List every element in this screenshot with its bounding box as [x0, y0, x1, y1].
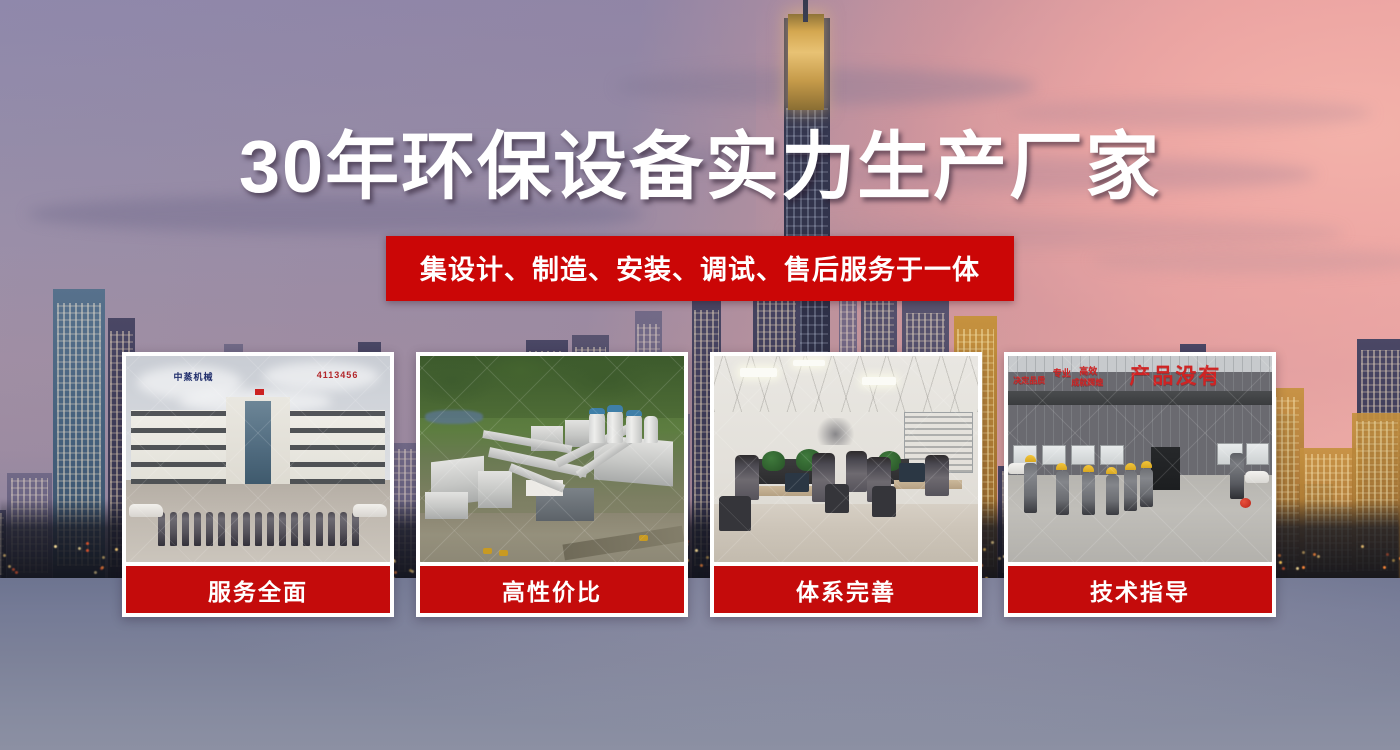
photo-silo-cap — [626, 410, 642, 416]
photo-ceiling-light — [793, 360, 825, 366]
card-label: 高性价比 — [420, 566, 684, 613]
photo-phone-number: 4113456 — [317, 370, 359, 380]
photo-yellow-helmet — [1141, 461, 1152, 468]
photo-ceiling — [714, 356, 978, 412]
photo-supervisor — [1230, 453, 1244, 499]
photo-building-atrium — [245, 401, 271, 483]
shore-light — [78, 547, 81, 550]
photo-factory-door — [1151, 447, 1180, 490]
photo-employee — [846, 451, 867, 492]
photo-flag — [255, 389, 264, 395]
photo-car — [353, 504, 387, 517]
photo-staff-member — [279, 512, 286, 546]
photo-plant-building — [478, 471, 512, 508]
photo-worker — [1124, 471, 1137, 511]
photo-building-wing-right — [290, 410, 385, 484]
photo-staff-member — [218, 512, 225, 546]
photo-staff-member — [303, 512, 310, 546]
photo-worker — [1056, 471, 1069, 515]
photo-staff-member — [231, 512, 238, 546]
photo-plant — [762, 451, 786, 472]
photo-wall-decal — [814, 418, 856, 445]
page-title: 30年环保设备实力生产厂家 — [0, 130, 1400, 204]
photo-slogan-large: 产品没有 — [1129, 360, 1221, 390]
photo-excavator — [499, 550, 508, 556]
shore-light — [3, 554, 6, 557]
subtitle-banner: 集设计、制造、安装、调试、售后服务于一体 — [386, 236, 1014, 301]
photo-worker — [1082, 473, 1095, 515]
shore-light — [54, 545, 57, 548]
photo-staff-member — [255, 512, 262, 546]
shore-light — [102, 556, 105, 559]
shore-light — [101, 566, 104, 569]
photo-plant-building — [425, 492, 467, 519]
photo-excavator — [483, 548, 492, 554]
shore-light — [1317, 555, 1320, 558]
photo-slogan-3: 决定品质 — [1013, 375, 1045, 386]
card-photo-plant-aerial — [420, 356, 684, 562]
shore-light — [1392, 559, 1395, 562]
photo-staff-member — [291, 512, 298, 546]
photo-pond — [425, 410, 483, 424]
photo-monitor — [785, 473, 809, 492]
photo-chair — [719, 496, 751, 531]
photo-wall-band — [1008, 391, 1272, 405]
photo-worker — [1024, 463, 1037, 513]
tower-spire — [803, 0, 808, 22]
photo-window — [1071, 445, 1095, 466]
shore-light — [86, 542, 89, 545]
photo-silo — [644, 416, 657, 443]
cloud-band — [1008, 98, 1372, 128]
photo-staff-member — [340, 512, 347, 546]
photo-yellow-helmet — [1125, 463, 1136, 470]
photo-silo — [589, 412, 605, 443]
photo-staff-member — [206, 512, 213, 546]
feature-card[interactable]: 中蒸机械 4113456 服务全面 — [122, 352, 394, 617]
photo-window — [1246, 443, 1270, 466]
photo-silo — [607, 410, 623, 443]
photo-silo-cap — [607, 405, 623, 411]
shore-light — [86, 549, 89, 552]
shore-light — [1282, 567, 1285, 570]
photo-slogan-4: 成就辉煌 — [1071, 377, 1103, 388]
photo-staff-member — [170, 512, 177, 546]
photo-window — [1042, 445, 1066, 466]
photo-ceiling-light — [862, 377, 896, 385]
card-label: 体系完善 — [714, 566, 978, 613]
photo-staff-member — [194, 512, 201, 546]
photo-employee — [925, 455, 949, 496]
shore-light — [1279, 561, 1282, 564]
shore-light — [94, 571, 97, 574]
shore-light — [1386, 553, 1389, 556]
card-photo-office-building: 中蒸机械 4113456 — [126, 356, 390, 562]
photo-silo — [626, 414, 642, 443]
photo-yellow-helmet — [1106, 467, 1117, 474]
feature-card[interactable]: 高性价比 — [416, 352, 688, 617]
tower-crown-lights — [788, 14, 824, 110]
card-photo-factory-workers: 产品没有 决定品质 专业 高效 成就辉煌 — [1008, 356, 1272, 562]
card-photo-office-interior — [714, 356, 978, 562]
photo-car — [129, 504, 163, 517]
shore-light — [1302, 551, 1305, 554]
shore-light — [1278, 554, 1281, 557]
photo-treeline — [420, 356, 684, 418]
card-label: 服务全面 — [126, 566, 390, 613]
feature-card[interactable]: 体系完善 — [710, 352, 982, 617]
photo-window — [1100, 445, 1124, 466]
feature-card[interactable]: 产品没有 决定品质 专业 高效 成就辉煌 技术指 — [1004, 352, 1276, 617]
photo-silo-cap — [589, 408, 605, 414]
photo-staff-member — [316, 512, 323, 546]
shore-light — [1383, 566, 1386, 569]
photo-yellow-helmet — [1056, 463, 1067, 470]
photo-staff-member — [182, 512, 189, 546]
photo-chair — [872, 486, 896, 517]
photo-floor — [714, 504, 978, 562]
photo-ceiling-light — [740, 368, 777, 376]
photo-car — [1245, 471, 1269, 483]
photo-staff-member — [267, 512, 274, 546]
photo-staff-member — [328, 512, 335, 546]
photo-employee — [735, 455, 759, 500]
photo-chair — [825, 484, 849, 513]
photo-slogan-2: 高效 — [1079, 364, 1097, 377]
shore-light — [15, 571, 18, 574]
shore-light — [12, 568, 15, 571]
photo-slogan-1: 专业 — [1053, 366, 1071, 379]
photo-company-sign: 中蒸机械 — [174, 370, 214, 383]
photo-building-wing-left — [131, 410, 226, 484]
shore-light — [1296, 567, 1299, 570]
photo-yellow-helmet — [1083, 465, 1094, 472]
feature-card-list: 中蒸机械 4113456 服务全面 — [122, 352, 1276, 617]
photo-worker — [1106, 475, 1119, 515]
shore-light — [115, 548, 118, 551]
shore-light — [1313, 553, 1316, 556]
photo-yellow-helmet — [1025, 455, 1036, 462]
hero-banner: 30年环保设备实力生产厂家 集设计、制造、安装、调试、售后服务于一体 中蒸机械 … — [0, 0, 1400, 750]
photo-excavator — [639, 535, 648, 541]
card-label: 技术指导 — [1008, 566, 1272, 613]
shore-light — [1302, 566, 1305, 569]
photo-monitor — [899, 463, 925, 482]
shore-light — [8, 565, 11, 568]
shore-light — [1361, 545, 1364, 548]
photo-staff-member — [243, 512, 250, 546]
photo-worker — [1140, 469, 1153, 507]
